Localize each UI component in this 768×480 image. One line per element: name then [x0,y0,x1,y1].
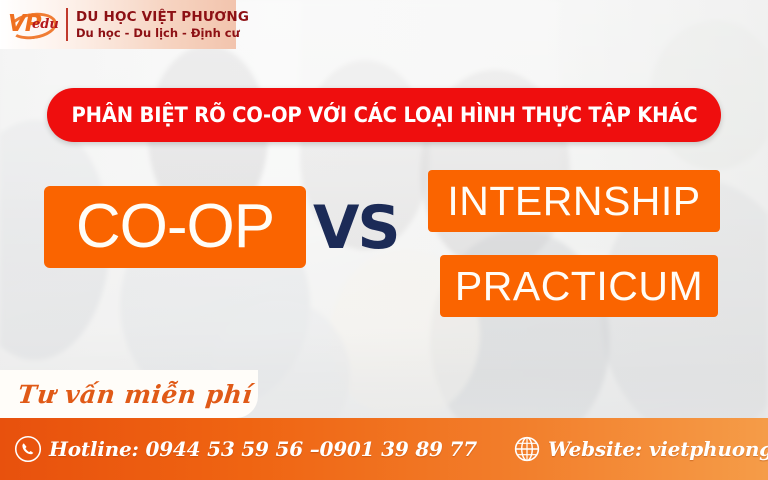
brand-name-primary: DU HỌC VIỆT PHƯƠNG [76,9,249,25]
coop-label-box: CO-OP [44,186,306,268]
logo-divider [66,8,68,41]
free-consultation-tab: Tư vấn miễn phí [0,370,258,418]
versus-label: VS [313,196,399,260]
free-consultation-text: Tư vấn miễn phí [16,380,254,409]
headline-banner: PHÂN BIỆT RÕ CO-OP VỚI CÁC LOẠI HÌNH THỰ… [47,88,721,142]
vpedu-logo-icon: VP edu [6,8,62,42]
poster-canvas: VP edu DU HỌC VIỆT PHƯƠNG Du học - Du lị… [0,0,768,480]
website-group[interactable]: Website: vietphuong.edu.vn [513,435,768,463]
hotline-group[interactable]: Hotline: 0944 53 59 56 –0901 39 89 77 [14,435,477,463]
coop-label-text: CO-OP [76,196,274,258]
contact-footer-bar: Hotline: 0944 53 59 56 –0901 39 89 77 We… [0,418,768,480]
internship-label-box: INTERNSHIP [428,170,720,232]
logo-edu-text: edu [32,17,59,32]
brand-logo-bar: VP edu DU HỌC VIỆT PHƯƠNG Du học - Du lị… [0,0,236,49]
phone-icon [14,435,42,463]
internship-label-text: INTERNSHIP [447,179,700,223]
practicum-label-text: PRACTICUM [455,264,703,308]
globe-icon [513,435,541,463]
website-text: Website: vietphuong.edu.vn [548,437,768,461]
hotline-text: Hotline: 0944 53 59 56 –0901 39 89 77 [49,437,477,461]
brand-name-block: DU HỌC VIỆT PHƯƠNG Du học - Du lịch - Đị… [76,9,249,39]
practicum-label-box: PRACTICUM [440,255,718,317]
headline-text: PHÂN BIỆT RÕ CO-OP VỚI CÁC LOẠI HÌNH THỰ… [71,103,697,127]
brand-name-secondary: Du học - Du lịch - Định cư [76,26,249,40]
